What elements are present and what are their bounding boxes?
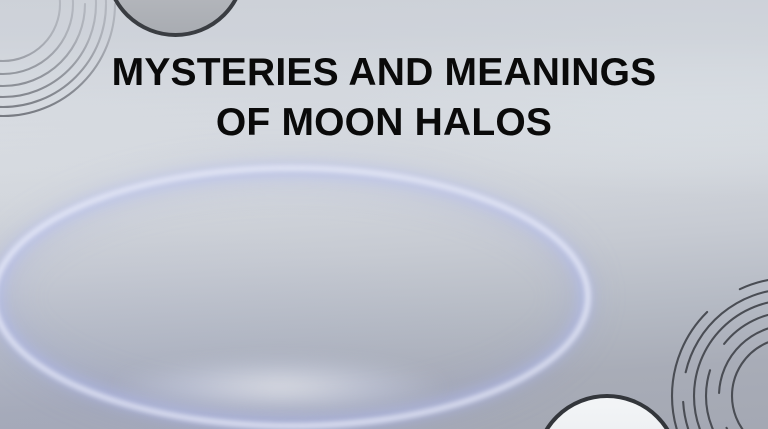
concentric-arcs-bottom-right [648, 268, 768, 429]
concentric-arcs-top-left [0, 0, 118, 127]
halo-outer-glow [0, 166, 590, 428]
background-tint-overlay [0, 0, 768, 429]
title-line-2: OF MOON HALOS [0, 98, 768, 148]
halo-mid-glow [0, 166, 590, 428]
moon-disc-top [105, 0, 246, 37]
page-title: MYSTERIES AND MEANINGS OF MOON HALOS [0, 48, 768, 148]
halo-bottom-highlight [60, 352, 500, 422]
halo-top-fade-mask [0, 0, 768, 429]
title-line-1: MYSTERIES AND MEANINGS [0, 48, 768, 98]
moon-disc-bottom [534, 394, 680, 429]
poster-canvas: MYSTERIES AND MEANINGS OF MOON HALOS [0, 0, 768, 429]
moon-halo-ring [0, 166, 590, 428]
halo-core-ring [0, 166, 590, 428]
